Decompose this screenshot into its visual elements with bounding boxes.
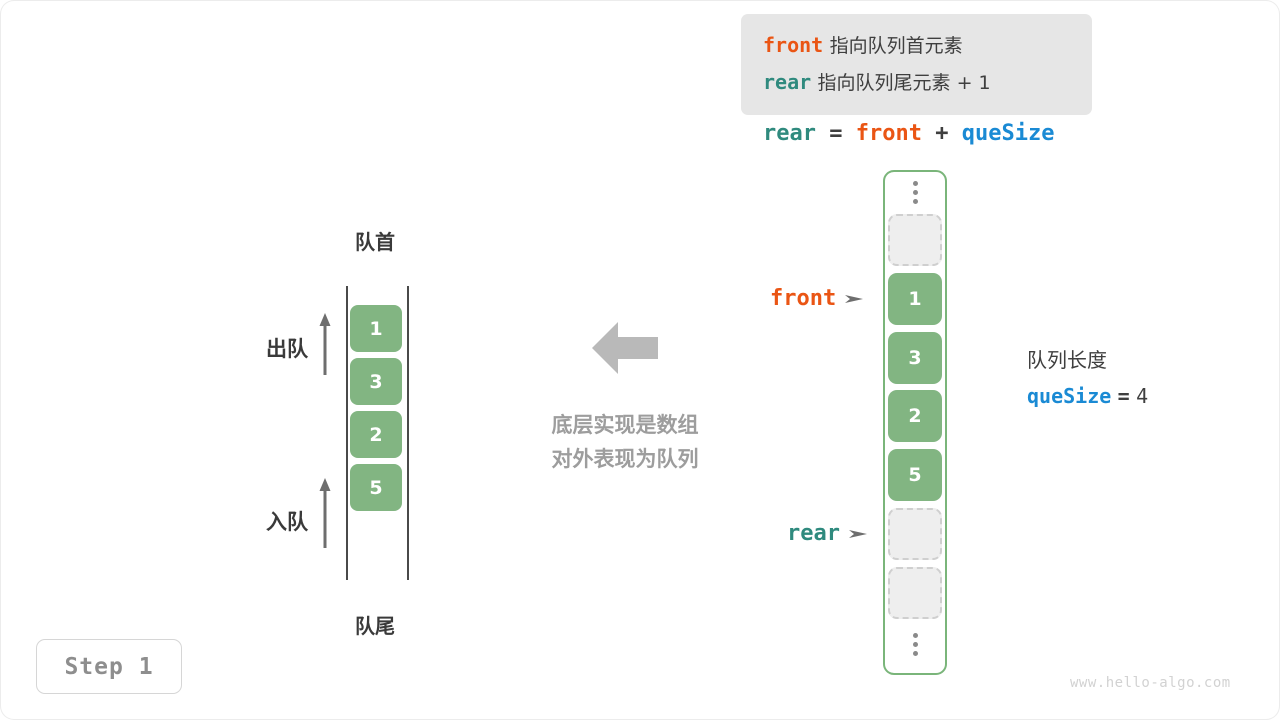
equation-equals: =	[829, 121, 842, 146]
quesize-note: 队列长度 queSize = 4	[1027, 342, 1148, 414]
queue-cell: 1	[350, 305, 402, 352]
center-caption-line2: 对外表现为队列	[500, 442, 750, 476]
pointer-definition-callout: front 指向队列首元素 rear 指向队列尾元素 + 1	[741, 14, 1092, 115]
array-slot-filled: 3	[888, 332, 942, 384]
array-slot-empty	[888, 567, 942, 619]
array-ellipsis-top	[888, 175, 942, 209]
front-pointer-label: front	[770, 286, 836, 311]
rear-equation: rear = front + queSize	[763, 118, 1054, 150]
array-slot-filled: 1	[888, 273, 942, 325]
queue-cell: 2	[350, 411, 402, 458]
rear-pointer: rear	[787, 521, 867, 546]
equation-lhs: rear	[763, 121, 816, 146]
quesize-value: 4	[1136, 384, 1148, 408]
quesize-equals: =	[1118, 384, 1130, 408]
queue-cell: 5	[350, 464, 402, 511]
enqueue-label: 入队	[238, 506, 308, 536]
array-slot-filled: 5	[888, 449, 942, 501]
front-token: front	[763, 33, 823, 57]
queue-head-label: 队首	[300, 226, 450, 255]
equation-quesize-term: queSize	[962, 121, 1055, 146]
array-slot-filled: 2	[888, 390, 942, 442]
dot	[913, 181, 918, 186]
dequeue-arrow-icon	[318, 313, 332, 375]
dot	[913, 642, 918, 647]
dot	[913, 633, 918, 638]
front-pointer-arrow-icon	[845, 293, 863, 305]
step-badge: Step 1	[36, 639, 182, 694]
center-caption: 底层实现是数组 对外表现为队列	[500, 408, 750, 476]
queue-rail-right	[407, 286, 409, 580]
queue-cell: 3	[350, 358, 402, 405]
rear-token: rear	[763, 70, 811, 94]
array-ellipsis-bottom	[888, 627, 942, 661]
dot	[913, 190, 918, 195]
quesize-note-title: 队列长度	[1027, 342, 1148, 378]
diagram-canvas: front 指向队列首元素 rear 指向队列尾元素 + 1 rear = fr…	[0, 0, 1280, 720]
left-arrow-icon	[592, 320, 658, 376]
array-slot-empty	[888, 214, 942, 266]
quesize-note-value-row: queSize = 4	[1027, 378, 1148, 414]
watermark: www.hello-algo.com	[1070, 675, 1231, 691]
array-slot-empty	[888, 508, 942, 560]
dot	[913, 199, 918, 204]
rear-description: 指向队列尾元素 + 1	[818, 72, 991, 94]
queue-tail-label: 队尾	[300, 610, 450, 639]
enqueue-arrow-icon	[318, 478, 332, 548]
quesize-var: queSize	[1027, 384, 1111, 408]
dequeue-label: 出队	[238, 333, 308, 363]
equation-plus: +	[935, 121, 948, 146]
center-caption-line1: 底层实现是数组	[500, 408, 750, 442]
rear-pointer-label: rear	[787, 521, 840, 546]
front-pointer: front	[770, 286, 863, 311]
equation-front-term: front	[856, 121, 922, 146]
dot	[913, 651, 918, 656]
callout-line-front: front 指向队列首元素	[763, 27, 1092, 64]
queue-rail-left	[346, 286, 348, 580]
rear-pointer-arrow-icon	[849, 528, 867, 540]
front-description: 指向队列首元素	[830, 35, 963, 57]
callout-line-rear: rear 指向队列尾元素 + 1	[763, 64, 1092, 101]
